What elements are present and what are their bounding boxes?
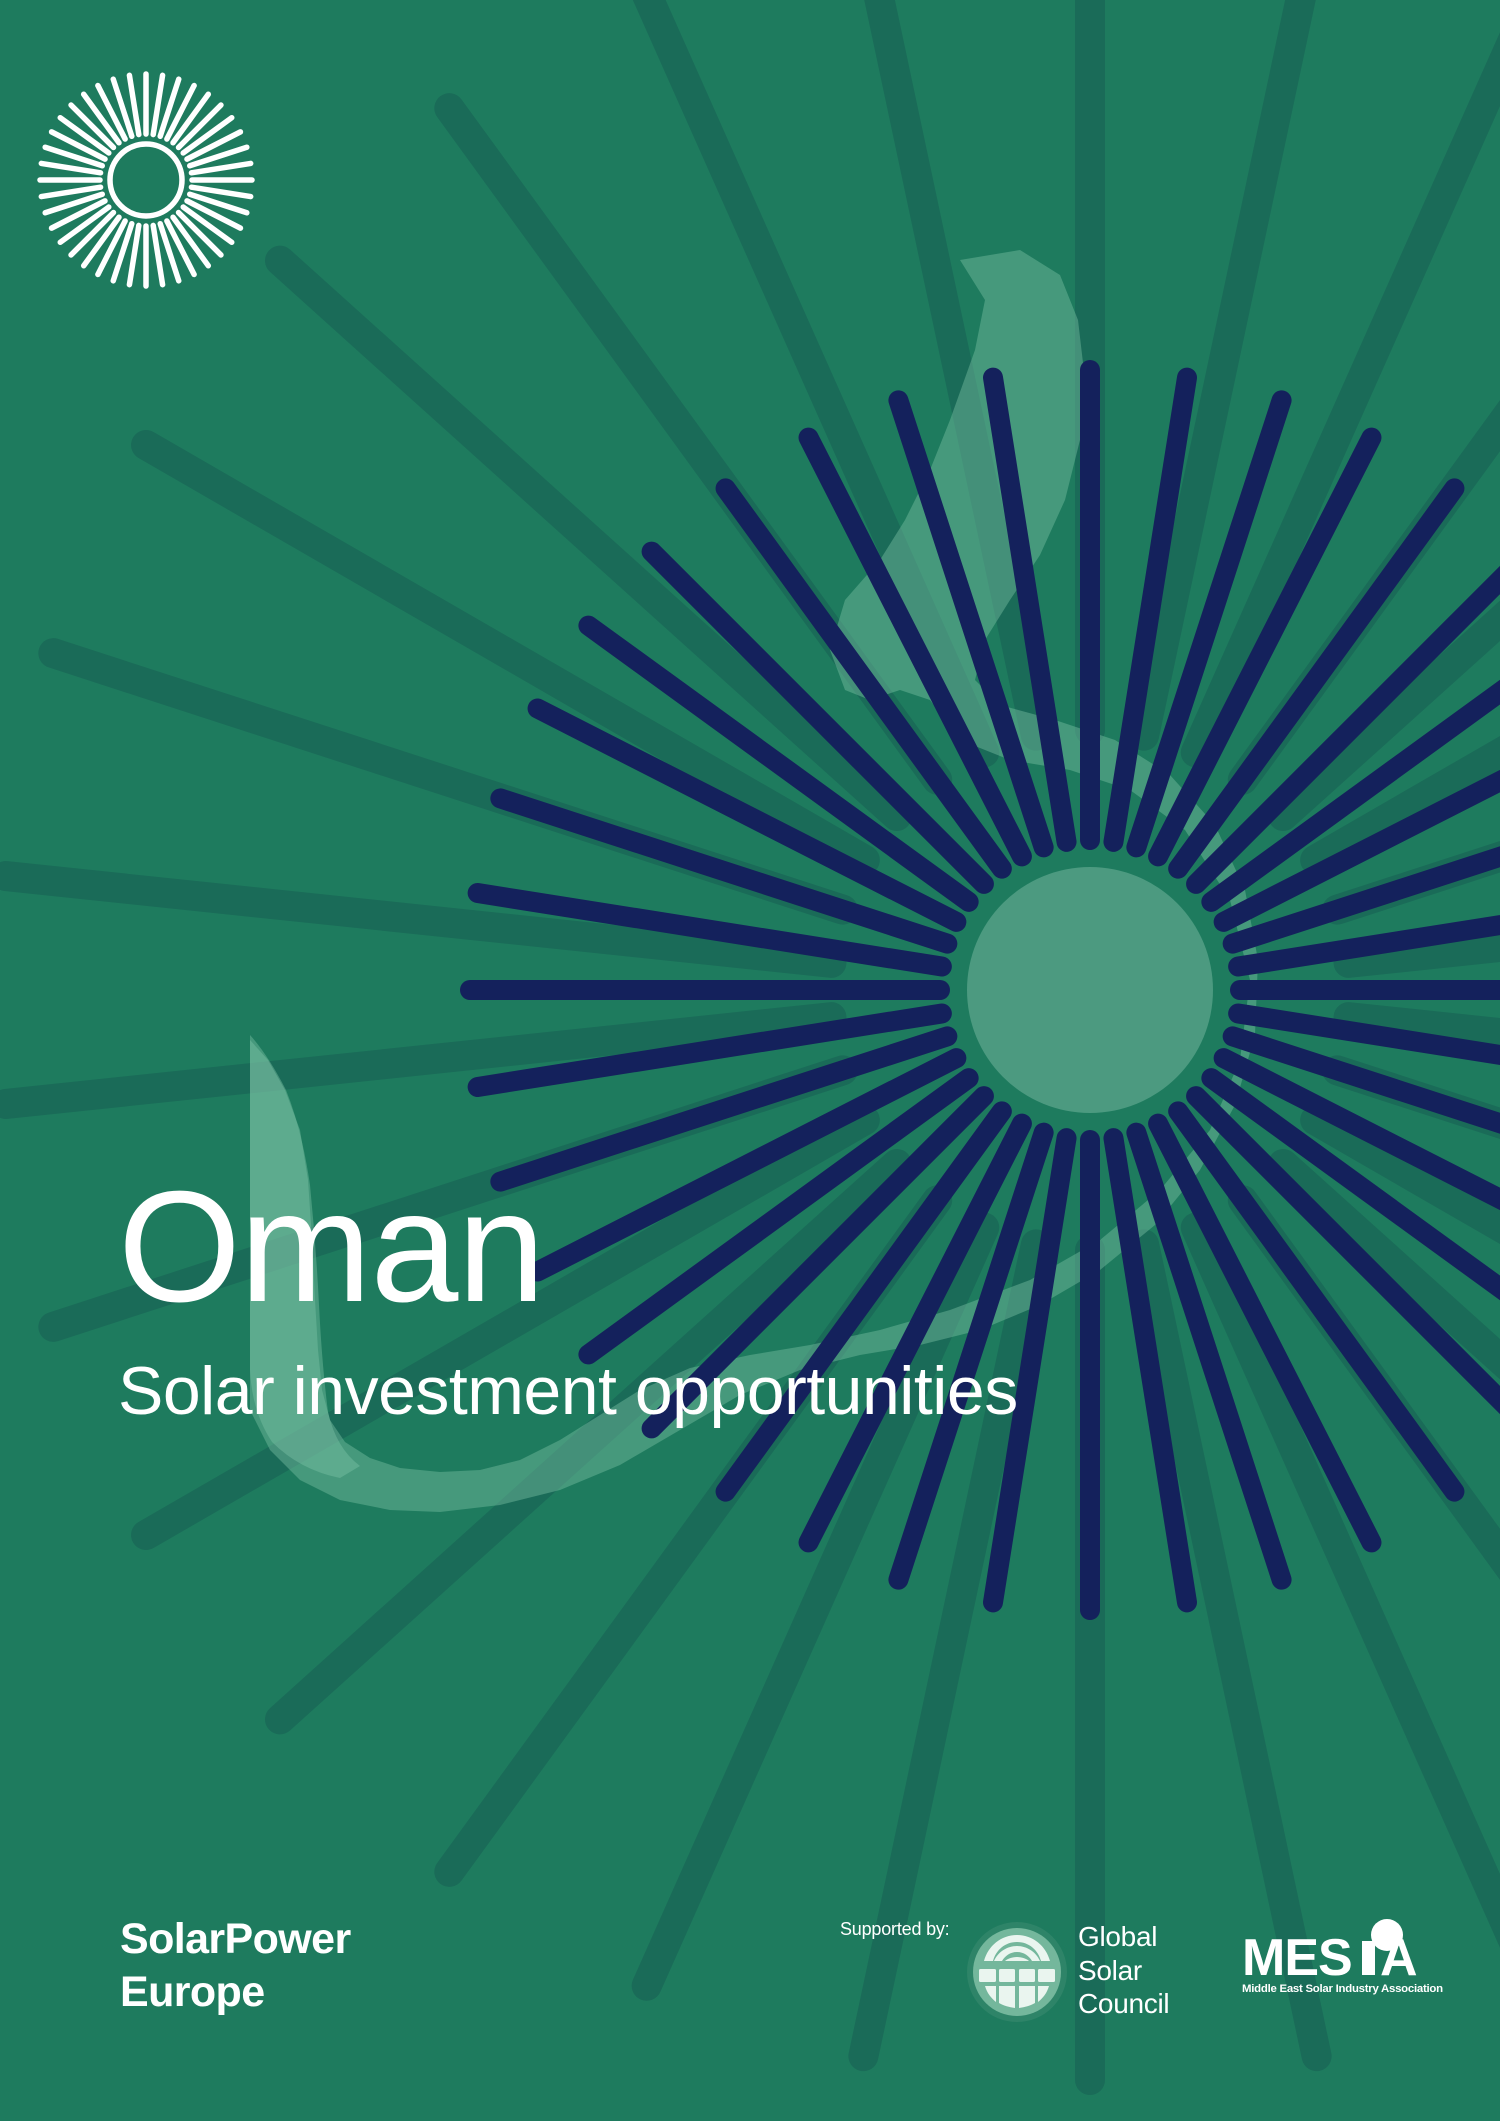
supporters-block: Supported by:	[840, 1907, 1440, 2037]
title-block: Oman Solar investment opportunities	[118, 1168, 1018, 1427]
global-solar-council-name: Global Solar Council	[1078, 1920, 1169, 2021]
mesia-tagline: Middle East Solar Industry Association	[1242, 1983, 1440, 1995]
globe-icon	[966, 1921, 1068, 2023]
gsc-name-line-1: Global	[1078, 1920, 1169, 1954]
page-subtitle: Solar investment opportunities	[118, 1326, 1018, 1427]
inner-sunburst-decoration	[0, 0, 1500, 2121]
gsc-name-line-2: Solar	[1078, 1954, 1169, 1988]
publisher-line-1: SolarPower	[120, 1913, 351, 1966]
report-cover-page: Oman Solar investment opportunities Sola…	[0, 0, 1500, 2121]
gsc-name-line-3: Council	[1078, 1987, 1169, 2021]
global-solar-council-logo: Global Solar Council	[966, 1917, 1226, 2029]
page-title: Oman	[118, 1168, 1018, 1326]
svg-text:MES: MES	[1242, 1929, 1352, 1983]
publisher-line-2: Europe	[120, 1966, 351, 2019]
supported-by-label: Supported by:	[840, 1919, 949, 1940]
svg-text:A: A	[1380, 1929, 1417, 1983]
mesia-icon: MES A	[1240, 1919, 1440, 1983]
solarpower-europe-wordmark: SolarPower Europe	[120, 1913, 351, 2020]
footer: SolarPower Europe Supported by:	[0, 1907, 1500, 2047]
mesia-logo: MES A Middle East Solar Industry Associa…	[1240, 1919, 1440, 2023]
sunburst-icon	[36, 70, 256, 290]
